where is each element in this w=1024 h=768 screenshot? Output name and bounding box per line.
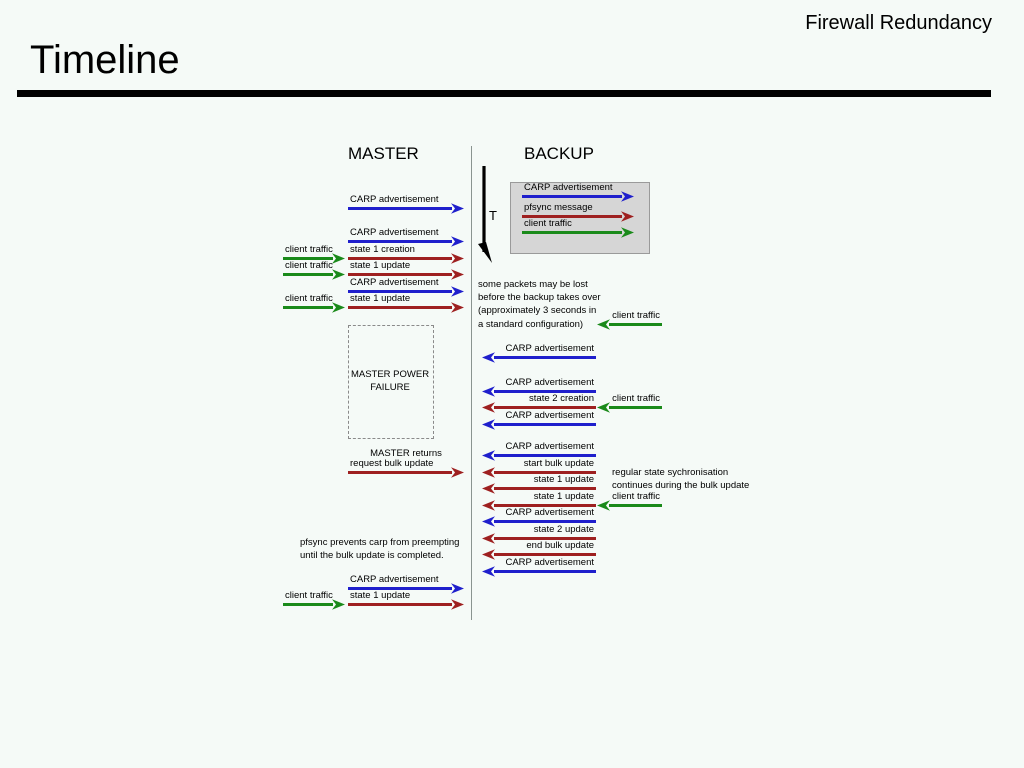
message-arrow-m14: client traffic (597, 397, 662, 411)
legend-item-3: client traffic (522, 222, 634, 236)
title-rule (17, 90, 991, 97)
message-arrow-m13: state 2 creation (482, 397, 596, 411)
message-arrow-m25: CARP advertisement (482, 561, 596, 575)
message-arrow-m28: state 1 update (348, 594, 464, 608)
slide-title: Timeline (30, 38, 180, 83)
message-arrow-m22: CARP advertisement (482, 511, 596, 525)
master-power-failure-label: MASTER POWER FAILURE (348, 368, 432, 394)
note-regular-sync: regular state sychronisation continues d… (612, 466, 749, 492)
slide-canvas: Firewall Redundancy Timeline MASTER BACK… (0, 0, 1024, 768)
message-arrow-m24: end bulk update (482, 544, 596, 558)
message-arrow-m21: client traffic (597, 495, 662, 509)
column-heading-master: MASTER (348, 144, 419, 164)
message-arrow-m01: CARP advertisement (348, 198, 464, 212)
message-arrow-m02: CARP advertisement (348, 231, 464, 245)
message-arrow-m11: CARP advertisement (482, 347, 596, 361)
message-arrow-m05: client traffic (283, 264, 345, 278)
message-arrow-m09: state 1 update (348, 297, 464, 311)
note-packet-loss: some packets may be lost before the back… (478, 278, 601, 331)
slide-subtitle: Firewall Redundancy (805, 12, 992, 35)
note-master-returns: MASTER returns (348, 447, 464, 460)
message-arrow-m27: client traffic (283, 594, 345, 608)
message-arrow-m19: state 1 update (482, 478, 596, 492)
message-arrow-m15: CARP advertisement (482, 414, 596, 428)
legend-item-1: CARP advertisement (522, 186, 634, 200)
message-arrow-m16: CARP advertisement (482, 445, 596, 459)
note-preempt: pfsync prevents carp from preempting unt… (300, 536, 459, 562)
time-axis-label: T (489, 208, 497, 223)
message-arrow-m06: state 1 update (348, 264, 464, 278)
message-arrow-m10: client traffic (597, 314, 662, 328)
message-arrow-m08: client traffic (283, 297, 345, 311)
column-heading-backup: BACKUP (524, 144, 594, 164)
message-arrow-m17: request bulk update (348, 462, 464, 476)
